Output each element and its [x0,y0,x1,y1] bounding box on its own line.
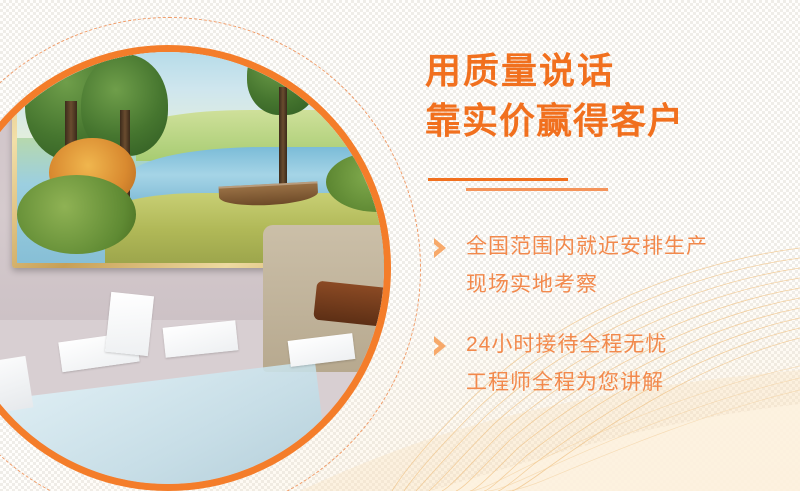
photo-image [0,52,384,484]
feature-item-1-line-2: 现场实地考察 [466,266,800,304]
document-center [104,292,153,357]
chevron-right-icon [430,236,450,260]
feature-list: 全国范围内就近安排生产 现场实地考察 24小时接待全程无忧 工程师全程为您讲解 [422,228,800,424]
chevron-right-icon [430,334,450,358]
page-title: 用质量说话 靠实价赢得客户 [425,46,800,146]
banner-content: 用质量说话 靠实价赢得客户 全国范围内就近安排生产 现场实地考察 [422,0,800,491]
divider-rule-bottom [466,188,608,191]
feature-item-2: 24小时接待全程无忧 工程师全程为您讲解 [422,326,800,402]
feature-item-2-line-1: 24小时接待全程无忧 [466,326,800,364]
feature-item-1-line-1: 全国范围内就近安排生产 [466,228,800,266]
headline-line-1: 用质量说话 [425,46,800,96]
promo-banner: 用质量说话 靠实价赢得客户 全国范围内就近安排生产 现场实地考察 [0,0,800,491]
feature-item-1: 全国范围内就近安排生产 现场实地考察 [422,228,800,304]
orange-circle-ring [0,45,391,491]
feature-item-2-line-2: 工程师全程为您讲解 [466,364,800,402]
circular-photo [0,45,391,491]
double-rule-divider [428,174,638,198]
divider-rule-top [428,178,568,181]
headline-line-2: 靠实价赢得客户 [425,96,800,146]
